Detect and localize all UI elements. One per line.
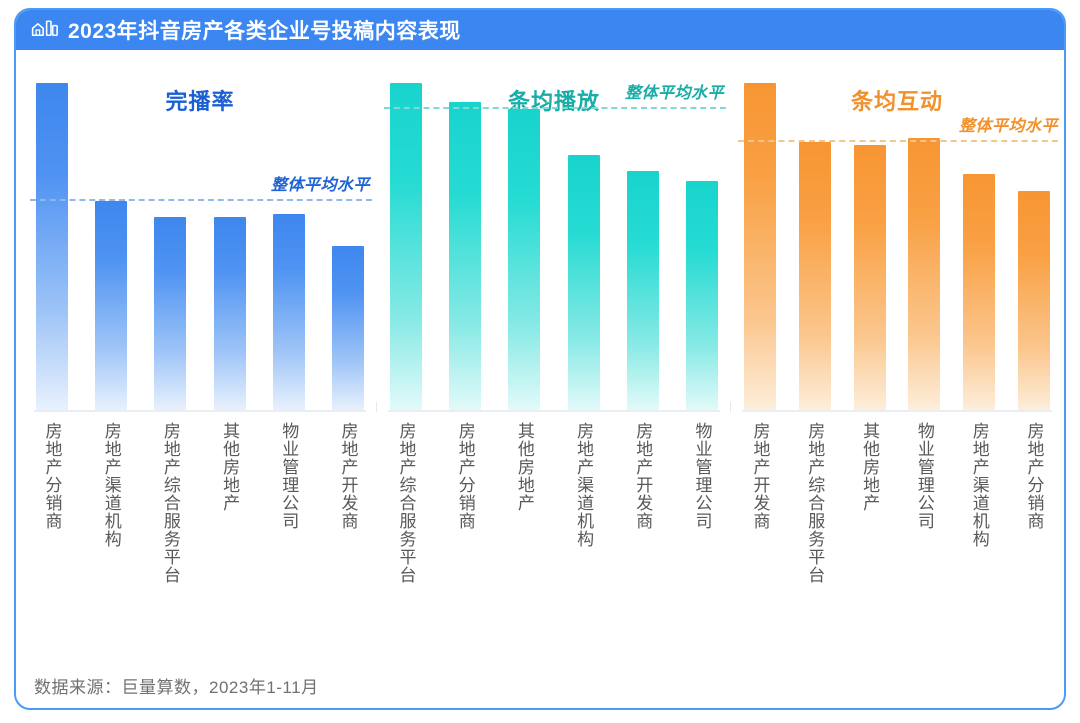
data-source-note: 数据来源：巨量算数，2023年1-11月 — [34, 673, 319, 698]
bar[interactable] — [854, 145, 886, 410]
bar[interactable] — [95, 201, 127, 410]
bar-group-completion-rate — [24, 50, 376, 410]
category-label: 房地产开发商 — [744, 422, 776, 662]
card-title: 2023年抖音房产各类企业号投稿内容表现 — [68, 15, 461, 45]
charts-container: 完播率 整体平均水平 房地产分销商 房 — [16, 50, 1064, 665]
axis-baseline — [742, 410, 1052, 412]
category-label: 其他房地产 — [214, 422, 246, 662]
category-label: 房地产分销商 — [449, 422, 481, 662]
category-label: 房地产开发商 — [627, 422, 659, 662]
bar-group-avg-interactions — [732, 50, 1062, 410]
axis-baseline — [34, 410, 366, 412]
bar[interactable] — [36, 83, 68, 410]
plot-area-completion-rate: 整体平均水平 — [24, 50, 376, 412]
bar[interactable] — [508, 109, 540, 410]
bar[interactable] — [1018, 191, 1050, 410]
category-label: 房地产渠道机构 — [568, 422, 600, 662]
bar[interactable] — [963, 174, 995, 410]
bar[interactable] — [568, 155, 600, 410]
plot-area-avg-plays: 整体平均水平 — [378, 50, 730, 412]
category-label: 房地产综合服务平台 — [799, 422, 831, 662]
bar[interactable] — [744, 83, 776, 410]
chart-panel-completion-rate: 完播率 整体平均水平 房地产分销商 房 — [24, 50, 376, 665]
average-line — [738, 140, 1058, 142]
average-line-label: 整体平均水平 — [959, 112, 1058, 136]
average-line-label: 整体平均水平 — [271, 171, 370, 195]
category-label: 房地产开发商 — [332, 422, 364, 662]
category-label: 其他房地产 — [854, 422, 886, 662]
category-label: 物业管理公司 — [908, 422, 940, 662]
bar[interactable] — [686, 181, 718, 410]
category-label: 房地产渠道机构 — [95, 422, 127, 662]
house-bar-chart-icon — [30, 16, 58, 44]
category-label: 房地产分销商 — [36, 422, 68, 662]
category-label: 物业管理公司 — [686, 422, 718, 662]
card-body: 完播率 整体平均水平 房地产分销商 房 — [16, 50, 1064, 710]
category-label: 房地产分销商 — [1018, 422, 1050, 662]
bar[interactable] — [908, 138, 940, 410]
category-label: 其他房地产 — [508, 422, 540, 662]
category-label: 房地产综合服务平台 — [154, 422, 186, 662]
bar[interactable] — [390, 83, 422, 410]
bar-group-avg-plays — [378, 50, 730, 410]
chart-panel-avg-plays: 条均播放 整体平均水平 房地产综合服务平台 — [378, 50, 730, 665]
average-line-label: 整体平均水平 — [625, 79, 724, 103]
chart-card: 2023年抖音房产各类企业号投稿内容表现 完播率 — [14, 8, 1066, 710]
panel-divider-2 — [730, 402, 731, 412]
panel-divider-1 — [376, 402, 377, 412]
chart-panel-avg-interactions: 条均互动 整体平均水平 房地产开发商 — [732, 50, 1062, 665]
axis-baseline — [388, 410, 720, 412]
bar[interactable] — [332, 246, 364, 410]
category-label: 物业管理公司 — [273, 422, 305, 662]
bar[interactable] — [627, 171, 659, 410]
category-label: 房地产渠道机构 — [963, 422, 995, 662]
category-labels-avg-plays: 房地产综合服务平台 房地产分销商 其他房地产 房地产渠道机构 房地产开发商 物业… — [378, 422, 730, 662]
plot-area-avg-interactions: 整体平均水平 — [732, 50, 1062, 412]
bar[interactable] — [154, 217, 186, 410]
category-label: 房地产综合服务平台 — [390, 422, 422, 662]
card-header: 2023年抖音房产各类企业号投稿内容表现 — [16, 10, 1064, 50]
bar[interactable] — [273, 214, 305, 410]
category-labels-completion-rate: 房地产分销商 房地产渠道机构 房地产综合服务平台 其他房地产 物业管理公司 房地… — [24, 422, 376, 662]
bar[interactable] — [799, 142, 831, 410]
category-labels-avg-interactions: 房地产开发商 房地产综合服务平台 其他房地产 物业管理公司 房地产渠道机构 房地… — [732, 422, 1062, 662]
bar[interactable] — [449, 102, 481, 410]
bar[interactable] — [214, 217, 246, 410]
average-line — [30, 199, 372, 201]
average-line — [384, 107, 726, 109]
